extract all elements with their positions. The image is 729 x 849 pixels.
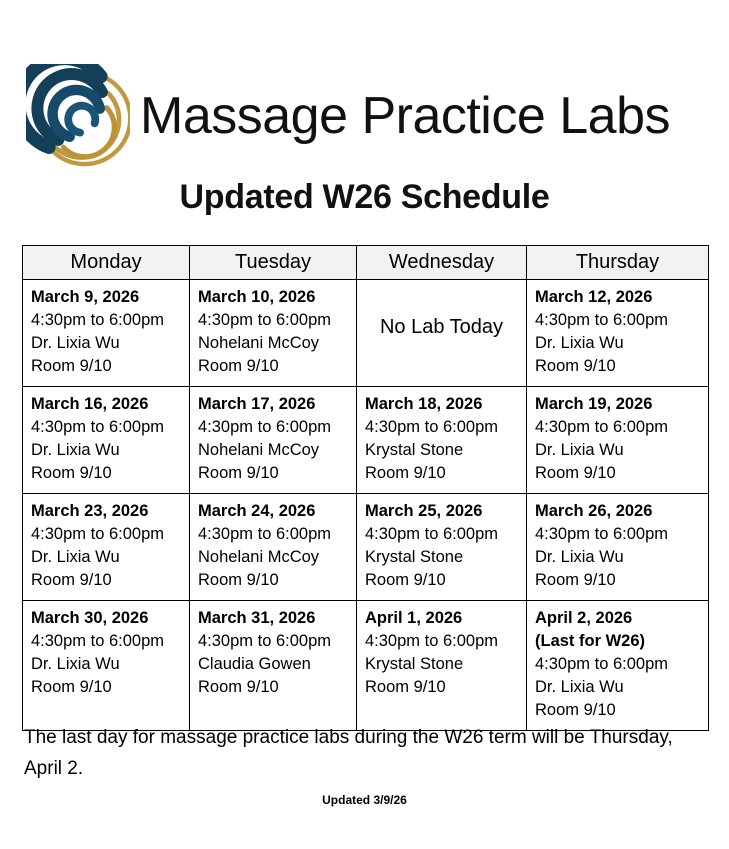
table-row: March 30, 20264:30pm to 6:00pmDr. Lixia … [23, 601, 709, 731]
session-detail: Dr. Lixia Wu [31, 439, 181, 462]
session-cell-content: March 24, 20264:30pm to 6:00pmNohelani M… [190, 494, 356, 600]
session-date: March 23, 2026 [31, 500, 181, 523]
session-detail: Krystal Stone [365, 546, 518, 569]
table-row: March 9, 20264:30pm to 6:00pmDr. Lixia W… [23, 280, 709, 387]
schedule-cell-tuesday: March 10, 20264:30pm to 6:00pmNohelani M… [190, 280, 357, 387]
session-detail: 4:30pm to 6:00pm [198, 630, 348, 653]
session-date: March 16, 2026 [31, 393, 181, 416]
session-detail: 4:30pm to 6:00pm [365, 523, 518, 546]
schedule-cell-thursday: March 19, 20264:30pm to 6:00pmDr. Lixia … [527, 387, 709, 494]
session-cell-content: March 17, 20264:30pm to 6:00pmNohelani M… [190, 387, 356, 493]
session-cell-content: March 19, 20264:30pm to 6:00pmDr. Lixia … [527, 387, 708, 493]
session-detail: Room 9/10 [535, 699, 700, 722]
schedule-table-body: March 9, 20264:30pm to 6:00pmDr. Lixia W… [23, 280, 709, 731]
column-header-tuesday: Tuesday [190, 246, 357, 280]
session-detail: Room 9/10 [365, 676, 518, 699]
session-cell-content: March 23, 20264:30pm to 6:00pmDr. Lixia … [23, 494, 189, 600]
session-detail: Nohelani McCoy [198, 332, 348, 355]
session-detail: 4:30pm to 6:00pm [31, 630, 181, 653]
session-detail: Dr. Lixia Wu [31, 546, 181, 569]
session-detail: Dr. Lixia Wu [31, 332, 181, 355]
session-detail: 4:30pm to 6:00pm [198, 416, 348, 439]
session-date: March 10, 2026 [198, 286, 348, 309]
session-date: March 30, 2026 [31, 607, 181, 630]
table-row: March 23, 20264:30pm to 6:00pmDr. Lixia … [23, 494, 709, 601]
schedule-cell-thursday: April 2, 2026(Last for W26)4:30pm to 6:0… [527, 601, 709, 731]
schedule-table: Monday Tuesday Wednesday Thursday March … [22, 245, 709, 731]
schedule-cell-tuesday: March 24, 20264:30pm to 6:00pmNohelani M… [190, 494, 357, 601]
session-detail: Room 9/10 [535, 462, 700, 485]
session-date: March 9, 2026 [31, 286, 181, 309]
session-detail: Dr. Lixia Wu [535, 439, 700, 462]
session-detail: Krystal Stone [365, 653, 518, 676]
session-cell-content: April 2, 2026(Last for W26)4:30pm to 6:0… [527, 601, 708, 730]
brand-title: Massage Practice Labs [140, 90, 670, 142]
schedule-cell-tuesday: March 17, 20264:30pm to 6:00pmNohelani M… [190, 387, 357, 494]
session-date: April 2, 2026 [535, 607, 700, 630]
schedule-cell-wednesday: April 1, 20264:30pm to 6:00pmKrystal Sto… [357, 601, 527, 731]
session-detail: Room 9/10 [365, 569, 518, 592]
session-detail: Dr. Lixia Wu [535, 676, 700, 699]
session-detail: Room 9/10 [198, 462, 348, 485]
session-cell-content: March 25, 20264:30pm to 6:00pmKrystal St… [357, 494, 526, 600]
session-cell-content: March 30, 20264:30pm to 6:00pmDr. Lixia … [23, 601, 189, 709]
schedule-cell-thursday: March 26, 20264:30pm to 6:00pmDr. Lixia … [527, 494, 709, 601]
document-subtitle: Updated W26 Schedule [0, 178, 729, 217]
session-cell-content: April 1, 20264:30pm to 6:00pmKrystal Sto… [357, 601, 526, 709]
session-date: March 17, 2026 [198, 393, 348, 416]
schedule-cell-monday: March 23, 20264:30pm to 6:00pmDr. Lixia … [23, 494, 190, 601]
session-detail: Room 9/10 [535, 569, 700, 592]
schedule-table-container: Monday Tuesday Wednesday Thursday March … [22, 245, 708, 731]
session-detail: Dr. Lixia Wu [31, 653, 181, 676]
session-detail: Room 9/10 [198, 676, 348, 699]
session-cell-content: March 18, 20264:30pm to 6:00pmKrystal St… [357, 387, 526, 493]
session-detail: Krystal Stone [365, 439, 518, 462]
session-detail: Dr. Lixia Wu [535, 546, 700, 569]
schedule-cell-monday: March 30, 20264:30pm to 6:00pmDr. Lixia … [23, 601, 190, 731]
footer-note: The last day for massage practice labs d… [24, 722, 714, 784]
session-date: March 25, 2026 [365, 500, 518, 523]
session-date: March 12, 2026 [535, 286, 700, 309]
column-header-wednesday: Wednesday [357, 246, 527, 280]
session-detail: 4:30pm to 6:00pm [31, 416, 181, 439]
session-detail: 4:30pm to 6:00pm [535, 416, 700, 439]
session-cell-content: March 9, 20264:30pm to 6:00pmDr. Lixia W… [23, 280, 189, 386]
session-date: April 1, 2026 [365, 607, 518, 630]
session-detail: 4:30pm to 6:00pm [535, 523, 700, 546]
session-detail: Room 9/10 [535, 355, 700, 378]
session-cell-content: March 12, 20264:30pm to 6:00pmDr. Lixia … [527, 280, 708, 386]
session-detail: 4:30pm to 6:00pm [31, 523, 181, 546]
updated-stamp: Updated 3/9/26 [0, 793, 729, 807]
column-header-monday: Monday [23, 246, 190, 280]
session-date: March 31, 2026 [198, 607, 348, 630]
brand-header: Massage Practice Labs [26, 62, 716, 170]
session-detail: Dr. Lixia Wu [535, 332, 700, 355]
table-row: March 16, 20264:30pm to 6:00pmDr. Lixia … [23, 387, 709, 494]
session-cell-content: March 26, 20264:30pm to 6:00pmDr. Lixia … [527, 494, 708, 600]
session-detail: Room 9/10 [365, 462, 518, 485]
session-date: March 19, 2026 [535, 393, 700, 416]
schedule-cell-wednesday: March 25, 20264:30pm to 6:00pmKrystal St… [357, 494, 527, 601]
schedule-cell-thursday: March 12, 20264:30pm to 6:00pmDr. Lixia … [527, 280, 709, 387]
session-detail: Nohelani McCoy [198, 546, 348, 569]
no-lab-label: No Lab Today [380, 315, 503, 339]
session-detail: 4:30pm to 6:00pm [535, 653, 700, 676]
schedule-cell-wednesday: No Lab Today [357, 280, 527, 387]
session-cell-content: March 31, 20264:30pm to 6:00pmClaudia Go… [190, 601, 356, 709]
session-detail: 4:30pm to 6:00pm [535, 309, 700, 332]
schedule-cell-monday: March 16, 20264:30pm to 6:00pmDr. Lixia … [23, 387, 190, 494]
session-cell-content: March 10, 20264:30pm to 6:00pmNohelani M… [190, 280, 356, 386]
session-detail: 4:30pm to 6:00pm [365, 630, 518, 653]
session-detail: Room 9/10 [198, 355, 348, 378]
session-detail: Room 9/10 [31, 355, 181, 378]
session-cell-content: March 16, 20264:30pm to 6:00pmDr. Lixia … [23, 387, 189, 493]
session-detail: Nohelani McCoy [198, 439, 348, 462]
session-detail: Claudia Gowen [198, 653, 348, 676]
session-date: (Last for W26) [535, 630, 700, 653]
session-date: March 24, 2026 [198, 500, 348, 523]
schedule-cell-tuesday: March 31, 20264:30pm to 6:00pmClaudia Go… [190, 601, 357, 731]
column-header-thursday: Thursday [527, 246, 709, 280]
session-date: March 26, 2026 [535, 500, 700, 523]
schedule-document: Massage Practice Labs Updated W26 Schedu… [0, 0, 729, 849]
session-detail: 4:30pm to 6:00pm [198, 309, 348, 332]
schedule-cell-wednesday: March 18, 20264:30pm to 6:00pmKrystal St… [357, 387, 527, 494]
session-detail: 4:30pm to 6:00pm [31, 309, 181, 332]
session-detail: 4:30pm to 6:00pm [365, 416, 518, 439]
massage-practice-labs-logo-icon [26, 64, 130, 168]
session-detail: Room 9/10 [31, 462, 181, 485]
schedule-cell-monday: March 9, 20264:30pm to 6:00pmDr. Lixia W… [23, 280, 190, 387]
session-date: March 18, 2026 [365, 393, 518, 416]
session-detail: Room 9/10 [31, 676, 181, 699]
session-detail: Room 9/10 [198, 569, 348, 592]
table-header-row: Monday Tuesday Wednesday Thursday [23, 246, 709, 280]
no-lab-cell-content: No Lab Today [357, 280, 526, 374]
session-detail: Room 9/10 [31, 569, 181, 592]
session-detail: 4:30pm to 6:00pm [198, 523, 348, 546]
